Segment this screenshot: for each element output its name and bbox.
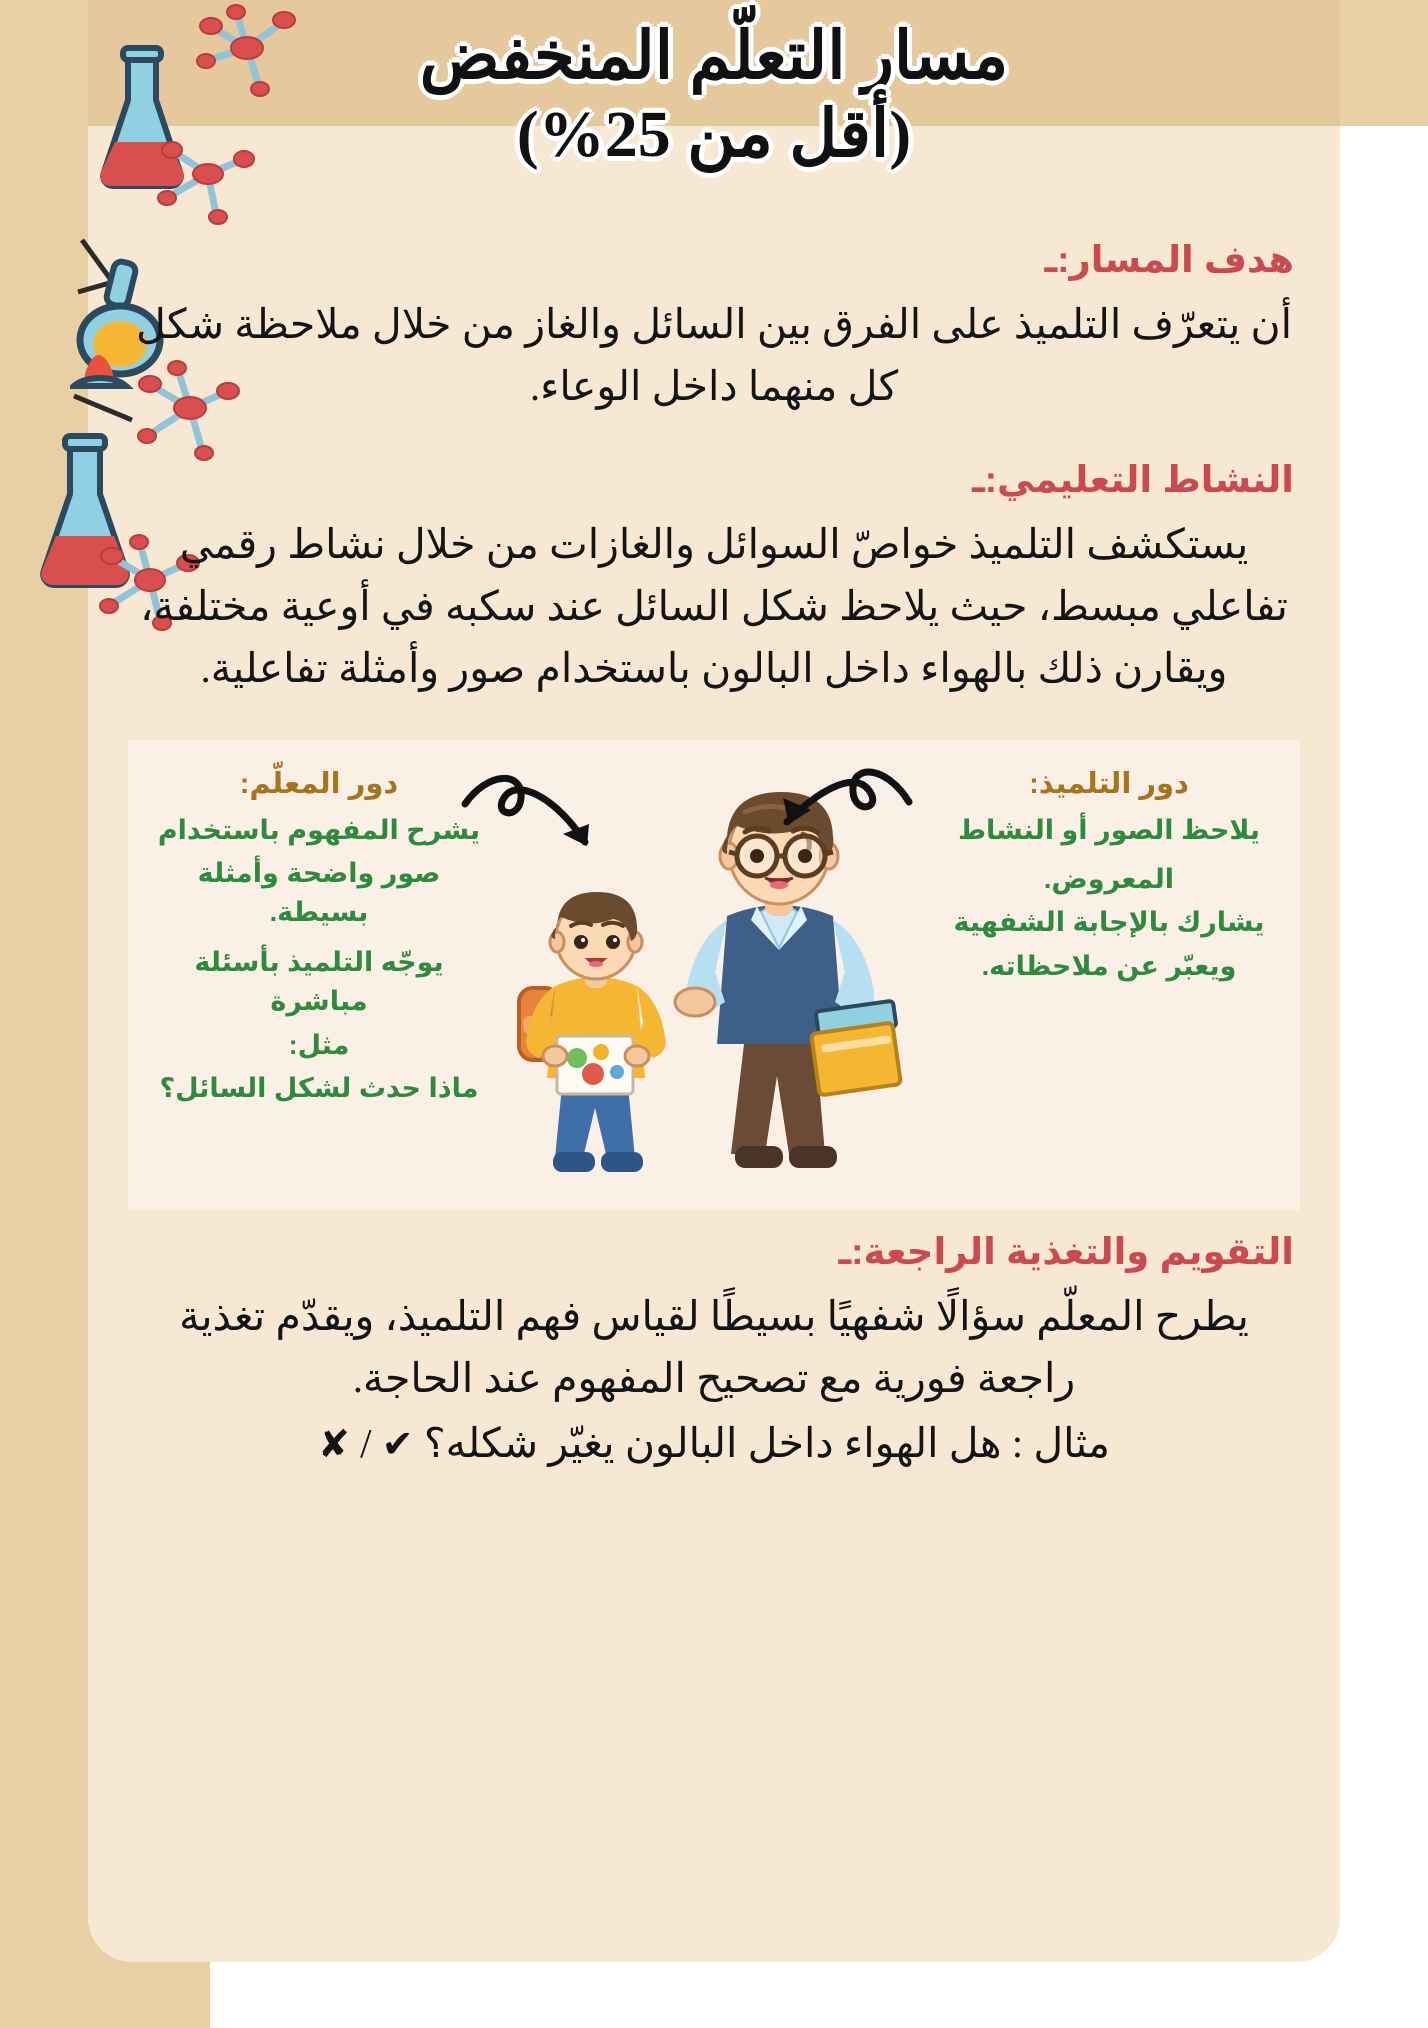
assessment-example-text: مثال : هل الهواء داخل البالون يغيّر شكله… (424, 1420, 1110, 1466)
teacher-role-line-2: صور واضحة وأمثلة بسيطة. (154, 854, 484, 933)
student-role-title: دور التلميذ: (944, 766, 1274, 801)
teacher-role-line-3: يوجّه التلميذ بأسئلة مباشرة (154, 943, 484, 1022)
title-line-1: مسار التعلّم المنخفض (88, 18, 1340, 96)
page-title: مسار التعلّم المنخفض (أقل من 25%) (88, 18, 1340, 174)
title-line-2: (أقل من 25%) (88, 96, 1340, 174)
wrong-mark-icon: ✘ (318, 1422, 350, 1466)
teacher-role-line-4: مثل: (154, 1026, 484, 1065)
section-body-goal: أن يتعرّف التلميذ على الفرق بين السائل و… (128, 293, 1300, 418)
section-body-activity: يستكشف التلميذ خواصّ السوائل والغازات من… (128, 513, 1300, 700)
worksheet-page: مسار التعلّم المنخفض (أقل من 25%) هدف ال… (0, 0, 1428, 2028)
student-role-line-3: يشارك بالإجابة الشفهية (944, 903, 1274, 942)
student-role-line-4: ويعبّر عن ملاحظاته. (944, 947, 1274, 986)
student-role-column: دور التلميذ: يلاحظ الصور أو النشاط المعر… (944, 762, 1274, 997)
section-heading-assessment: التقويم والتغذية الراجعة:ـ (128, 1230, 1300, 1273)
curved-arrow-icon (457, 766, 627, 876)
student-role-line-1: يلاحظ الصور أو النشاط (944, 811, 1274, 850)
student-with-backpack-illustration (505, 890, 691, 1194)
curved-arrow-icon (747, 758, 917, 858)
assessment-example-line: مثال : هل الهواء داخل البالون يغيّر شكله… (128, 1419, 1300, 1467)
teacher-role-column: دور المعلّم: يشرح المفهوم باستخدام صور و… (154, 762, 484, 1119)
student-role-line-2: المعروض. (944, 860, 1274, 899)
teacher-role-line-5: ماذا حدث لشكل السائل؟ (154, 1069, 484, 1108)
teacher-role-title: دور المعلّم: (154, 766, 484, 801)
content-container: هدف المسار:ـ أن يتعرّف التلميذ على الفرق… (128, 238, 1300, 1467)
roles-illustration (499, 762, 929, 1192)
roles-box: دور التلميذ: يلاحظ الصور أو النشاط المعر… (128, 740, 1300, 1210)
section-body-assessment: يطرح المعلّم سؤالًا شفهيًا بسيطًا لقياس … (128, 1285, 1300, 1410)
section-heading-activity: النشاط التعليمي:ـ (128, 458, 1300, 501)
mark-separator: / (360, 1420, 371, 1466)
correct-mark-icon: ✔ (382, 1422, 414, 1466)
section-heading-goal: هدف المسار:ـ (128, 238, 1300, 281)
teacher-role-line-1: يشرح المفهوم باستخدام (154, 811, 484, 850)
